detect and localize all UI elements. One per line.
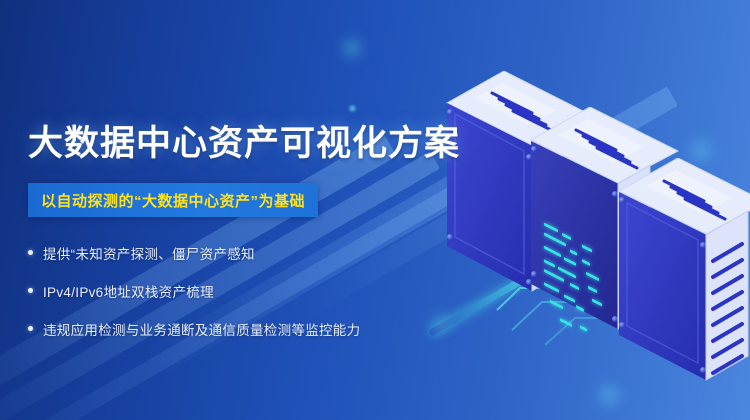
server-racks-illustration: [430, 55, 750, 420]
banner-copy: 大数据中心资产可视化方案 以自动探测的“大数据中心资产”为基础 提供“未知资产探…: [0, 0, 460, 420]
bullet-text: 提供“未知资产探测、僵尸资产感知: [43, 243, 255, 263]
feature-bullet-list: 提供“未知资产探测、僵尸资产感知 IPv4/IPv6地址双栈资产梳理 违规应用检…: [28, 238, 438, 352]
bullet-text: IPv4/IPv6地址双栈资产梳理: [43, 281, 214, 301]
bullet-dot-icon: [28, 326, 33, 331]
subtitle-badge: 以自动探测的“大数据中心资产”为基础: [28, 183, 318, 217]
bullet-dot-icon: [28, 250, 33, 255]
promo-banner: 大数据中心资产可视化方案 以自动探测的“大数据中心资产”为基础 提供“未知资产探…: [0, 0, 750, 420]
bullet-text: 违规应用检测与业务通断及通信质量检测等监控能力: [43, 319, 360, 339]
list-item: 提供“未知资产探测、僵尸资产感知: [28, 238, 438, 267]
list-item: IPv4/IPv6地址双栈资产梳理: [28, 276, 438, 305]
page-title: 大数据中心资产可视化方案: [28, 126, 460, 161]
bullet-dot-icon: [28, 288, 33, 293]
list-item: 违规应用检测与业务通断及通信质量检测等监控能力: [28, 314, 438, 343]
